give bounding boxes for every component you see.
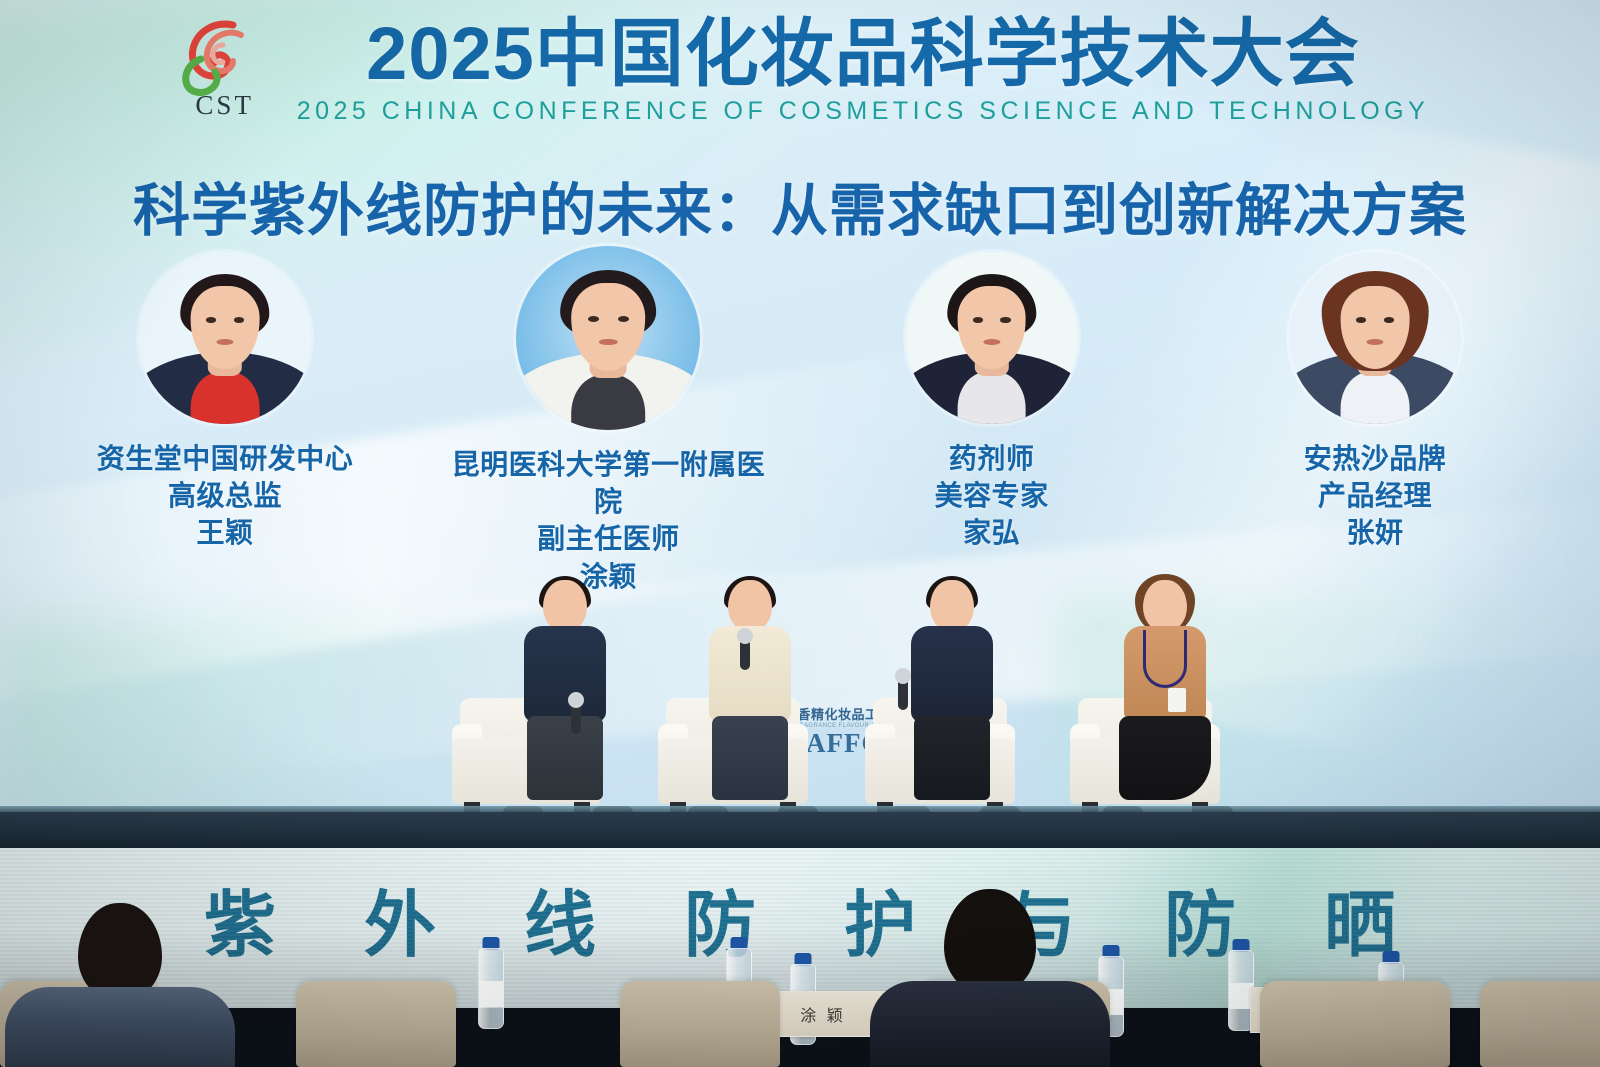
portrait-zhang-yan bbox=[1289, 252, 1461, 424]
panelist-2 bbox=[680, 580, 820, 820]
speaker-name: 王颖 bbox=[97, 514, 354, 551]
water-bottle bbox=[478, 937, 504, 1029]
audience-seat bbox=[296, 981, 456, 1067]
speaker-list: 资生堂中国研发中心 高级总监 王颖 昆明医科大学第一附属医院 副主任医师 涂颖 bbox=[60, 252, 1540, 595]
speaker-organization: 安热沙品牌 bbox=[1304, 440, 1447, 477]
speaker-card: 资生堂中国研发中心 高级总监 王颖 bbox=[60, 252, 390, 552]
panelist-moderator bbox=[495, 580, 635, 820]
audience-foreground: 涂 颖 张 妍 bbox=[0, 930, 1600, 1067]
conference-title-cn: 2025中国化妆品科学技术大会 bbox=[366, 16, 1360, 91]
speaker-card: 药剂师 美容专家 家弘 bbox=[827, 252, 1157, 552]
conference-title-en: 2025 CHINA CONFERENCE OF COSMETICS SCIEN… bbox=[297, 97, 1430, 126]
portrait-wang-ying bbox=[139, 252, 311, 424]
speaker-role: 高级总监 bbox=[97, 477, 354, 514]
speaker-info: 资生堂中国研发中心 高级总监 王颖 bbox=[97, 440, 354, 552]
conference-title-block: 2025中国化妆品科学技术大会 2025 CHINA CONFERENCE OF… bbox=[297, 16, 1430, 126]
speaker-organization: 资生堂中国研发中心 bbox=[97, 440, 354, 477]
speaker-info: 药剂师 美容专家 家弘 bbox=[935, 440, 1049, 552]
panel-discussion-area bbox=[0, 560, 1600, 820]
speaker-info: 安热沙品牌 产品经理 张妍 bbox=[1304, 440, 1447, 552]
session-title: 科学紫外线防护的未来：从需求缺口到创新解决方案 bbox=[0, 165, 1600, 247]
speaker-card: 昆明医科大学第一附属医院 副主任医师 涂颖 bbox=[443, 252, 773, 595]
panelist-4 bbox=[1095, 580, 1235, 820]
audience-seat bbox=[1260, 981, 1450, 1067]
panelist-3 bbox=[882, 580, 1022, 820]
portrait-tu-ying bbox=[516, 246, 700, 430]
handheld-microphone bbox=[740, 636, 750, 670]
speaker-role: 产品经理 bbox=[1304, 477, 1447, 514]
audience-seat bbox=[620, 981, 780, 1067]
handheld-microphone bbox=[898, 676, 908, 710]
cst-flame-logo: CST bbox=[171, 19, 279, 123]
speaker-name: 家弘 bbox=[935, 514, 1049, 551]
audience-seat bbox=[1480, 981, 1600, 1067]
speaker-organization: 药剂师 bbox=[935, 440, 1049, 477]
conference-stage-photo: CST 2025中国化妆品科学技术大会 2025 CHINA CONFERENC… bbox=[0, 0, 1600, 1067]
portrait-jia-hong bbox=[906, 252, 1078, 424]
conference-header: CST 2025中国化妆品科学技术大会 2025 CHINA CONFERENC… bbox=[0, 16, 1600, 126]
speaker-role: 副主任医师 bbox=[443, 520, 773, 557]
stage-front-panel bbox=[0, 812, 1600, 850]
cst-logo-text: CST bbox=[171, 90, 279, 121]
speaker-role: 美容专家 bbox=[935, 477, 1049, 514]
speaker-card: 安热沙品牌 产品经理 张妍 bbox=[1210, 252, 1540, 552]
speaker-name: 张妍 bbox=[1304, 514, 1447, 551]
speaker-organization: 昆明医科大学第一附属医院 bbox=[443, 446, 773, 520]
